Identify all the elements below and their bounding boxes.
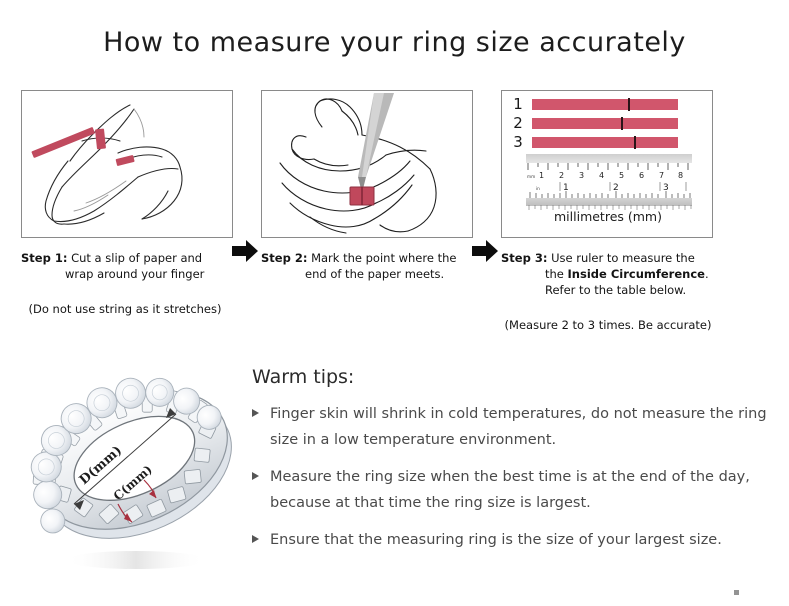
step-1-label: Step 1: <box>21 251 67 265</box>
warm-tip-text: Finger skin will shrink in cold temperat… <box>270 406 767 448</box>
ruler-graphic: 12 34 56 78 mm 123 in <box>526 154 692 206</box>
mm-tick-marks-icon: 12 34 56 78 mm <box>526 163 692 179</box>
step-2-caption: Step 2: Mark the point where the end of … <box>261 250 475 282</box>
step-3-caption-line2-tail: . <box>705 267 709 281</box>
svg-text:6: 6 <box>639 171 644 179</box>
strip-mark-3 <box>634 136 636 149</box>
strip-number-2: 2 <box>510 116 526 131</box>
svg-text:3: 3 <box>579 171 584 179</box>
svg-text:2: 2 <box>559 171 564 179</box>
strip-bar-2 <box>532 118 678 129</box>
step-1-caption-line2: wrap around your finger <box>21 266 235 282</box>
eternity-ring-diagram-icon: D(mm) C(mm) <box>26 352 248 584</box>
inch-unit-label: in <box>536 186 540 191</box>
step-2-caption-line2: end of the paper meets. <box>261 266 475 282</box>
paper-strip-row-2: 2 <box>510 116 678 131</box>
step-column-2: Step 2: Mark the point where the end of … <box>261 90 475 282</box>
warm-tips-title: Warm tips: <box>252 366 772 388</box>
arrow-right-icon <box>232 238 258 264</box>
flow-arrow-1-to-2 <box>232 238 258 264</box>
triangle-bullet-icon <box>252 409 259 417</box>
step-3-caption: Step 3: Use ruler to measure the the Ins… <box>501 250 715 298</box>
warm-tip-text: Ensure that the measuring ring is the si… <box>270 532 722 548</box>
page-title: How to measure your ring size accurately <box>0 27 789 58</box>
svg-text:7: 7 <box>659 171 664 179</box>
step-3-caption-line1: Use ruler to measure the <box>551 251 695 265</box>
svg-text:5: 5 <box>619 171 624 179</box>
step-1-caption: Step 1: Cut a slip of paper and wrap aro… <box>21 250 235 282</box>
paper-strip-row-3: 3 <box>510 135 678 150</box>
paper-strip-row-1: 1 <box>510 97 678 112</box>
step-1-note: (Do not use string as it stretches) <box>21 302 235 317</box>
ruler-face-inch: 123 in <box>526 182 692 198</box>
warm-tip-item: Finger skin will shrink in cold temperat… <box>252 401 772 453</box>
step-3-caption-line3: Refer to the table below. <box>501 282 715 298</box>
svg-text:8: 8 <box>678 171 683 179</box>
step-2-caption-line1: Mark the point where the <box>311 251 456 265</box>
hand-marking-paper-icon <box>262 91 472 237</box>
strip-number-3: 3 <box>510 135 526 150</box>
warm-tip-item: Ensure that the measuring ring is the si… <box>252 527 772 553</box>
strip-bar-1 <box>532 99 678 110</box>
hand-with-paper-slip-icon <box>22 91 232 237</box>
triangle-bullet-icon <box>252 472 259 480</box>
step-column-1: Step 1: Cut a slip of paper and wrap aro… <box>21 90 235 317</box>
inch-tick-marks-icon: 123 in <box>526 182 692 198</box>
strip-mark-2 <box>621 117 623 130</box>
step-3-caption-line2: the Inside Circumference. <box>501 266 715 282</box>
warm-tips-section: Warm tips: Finger skin will shrink in co… <box>252 366 772 564</box>
svg-text:4: 4 <box>599 171 604 179</box>
step-3-note: (Measure 2 to 3 times. Be accurate) <box>501 318 715 333</box>
arrow-right-icon <box>472 238 498 264</box>
flow-arrow-2-to-3 <box>472 238 498 264</box>
step-2-label: Step 2: <box>261 251 307 265</box>
step-3-caption-line2-prefix: the <box>545 267 568 281</box>
paper-slip-shape <box>31 127 134 166</box>
ruler-face-mm: 12 34 56 78 mm <box>526 163 692 179</box>
step-column-3: 1 2 3 <box>501 90 715 333</box>
strip-mark-1 <box>628 98 630 111</box>
paper-band-shape <box>350 187 374 205</box>
step-1-caption-line1: Cut a slip of paper and <box>71 251 202 265</box>
ruler-band-bottom <box>526 198 692 206</box>
strip-bar-3 <box>532 137 678 148</box>
inside-circumference-emphasis: Inside Circumference <box>568 267 705 281</box>
triangle-bullet-icon <box>252 535 259 543</box>
corner-artifact <box>734 590 739 595</box>
step-3-illustration-panel: 1 2 3 <box>501 90 713 238</box>
ring-figure: D(mm) C(mm) <box>26 352 248 584</box>
step-3-label: Step 3: <box>501 251 547 265</box>
ruler-band-top <box>526 154 692 163</box>
warm-tips-list: Finger skin will shrink in cold temperat… <box>252 401 772 553</box>
steps-row: Step 1: Cut a slip of paper and wrap aro… <box>0 90 789 340</box>
warm-tip-text: Measure the ring size when the best time… <box>270 469 750 511</box>
step-2-illustration-panel <box>261 90 473 238</box>
warm-tip-item: Measure the ring size when the best time… <box>252 464 772 516</box>
ruler-caption: millimetres (mm) <box>502 209 713 224</box>
step-1-illustration-panel <box>21 90 233 238</box>
strip-number-1: 1 <box>510 97 526 112</box>
svg-text:1: 1 <box>539 171 544 179</box>
pen-shape <box>358 93 394 189</box>
